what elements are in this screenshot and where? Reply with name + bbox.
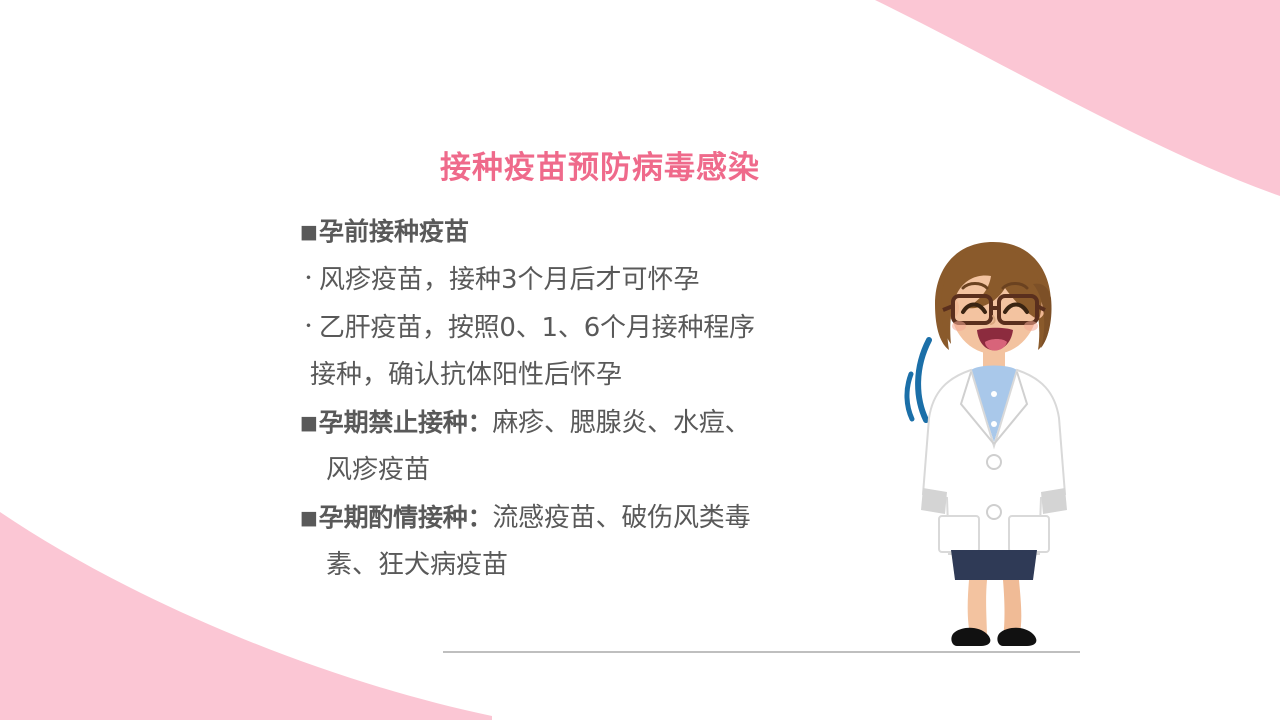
list-item-heading-2-continued: 风疹疫苗	[300, 447, 920, 494]
list-item-label: 孕期酌情接种：	[319, 503, 493, 532]
list-item-value: 流感疫苗、破伤风类毒	[492, 503, 750, 533]
cuff-right	[1041, 488, 1067, 514]
list-item-sub-2-continued: 接种，确认抗体阳性后怀孕	[300, 352, 920, 399]
list-item-label: 孕期禁止接种：	[319, 408, 493, 437]
list-item-label: 接种，确认抗体阳性后怀孕	[310, 360, 622, 390]
page-title: 接种疫苗预防病毒感染	[0, 142, 1200, 187]
list-item-label: 乙肝疫苗，按照0、1、6个月接种程序	[319, 313, 755, 343]
list-item-value: 麻疹、腮腺炎、水痘、	[492, 408, 750, 438]
coat-pocket-left	[939, 516, 979, 552]
shoe-right	[997, 628, 1036, 646]
slide-canvas: 接种疫苗预防病毒感染 ■孕前接种疫苗 ・风疹疫苗，接种3个月后才可怀孕 ・乙肝疫…	[0, 0, 1280, 720]
square-bullet-icon: ■	[300, 507, 318, 529]
list-item-heading-2: ■孕期禁止接种：麻疹、腮腺炎、水痘、	[300, 399, 920, 447]
doctor-illustration	[893, 232, 1093, 652]
dot-bullet-icon: ・	[300, 269, 317, 289]
list-item-heading-3: ■孕期酌情接种：流感疫苗、破伤风类毒	[300, 494, 920, 542]
cheek-left	[952, 321, 966, 331]
list-item-label: 素、狂犬病疫苗	[326, 550, 508, 580]
list-item-heading-1: ■孕前接种疫苗	[300, 208, 920, 256]
square-bullet-icon: ■	[300, 221, 318, 243]
skirt	[951, 550, 1037, 580]
list-item-label: 孕前接种疫苗	[319, 217, 469, 246]
coat-button-1	[987, 455, 1001, 469]
list-item-label: 风疹疫苗	[326, 455, 430, 485]
shirt-button-1	[991, 391, 997, 397]
list-item-heading-3-continued: 素、狂犬病疫苗	[300, 542, 920, 589]
shirt-button-2	[991, 421, 997, 427]
cheek-right	[1024, 321, 1038, 331]
list-item-sub-2: ・乙肝疫苗，按照0、1、6个月接种程序	[300, 304, 920, 352]
list-item-sub-1: ・风疹疫苗，接种3个月后才可怀孕	[300, 256, 920, 304]
dot-bullet-icon: ・	[300, 317, 317, 337]
list-item-label: 风疹疫苗，接种3个月后才可怀孕	[319, 265, 700, 295]
cuff-left	[921, 488, 947, 514]
content-body: ■孕前接种疫苗 ・风疹疫苗，接种3个月后才可怀孕 ・乙肝疫苗，按照0、1、6个月…	[300, 208, 920, 589]
square-bullet-icon: ■	[300, 412, 318, 434]
coat-button-2	[987, 505, 1001, 519]
coat-pocket-right	[1009, 516, 1049, 552]
motion-arcs-icon	[907, 340, 929, 420]
